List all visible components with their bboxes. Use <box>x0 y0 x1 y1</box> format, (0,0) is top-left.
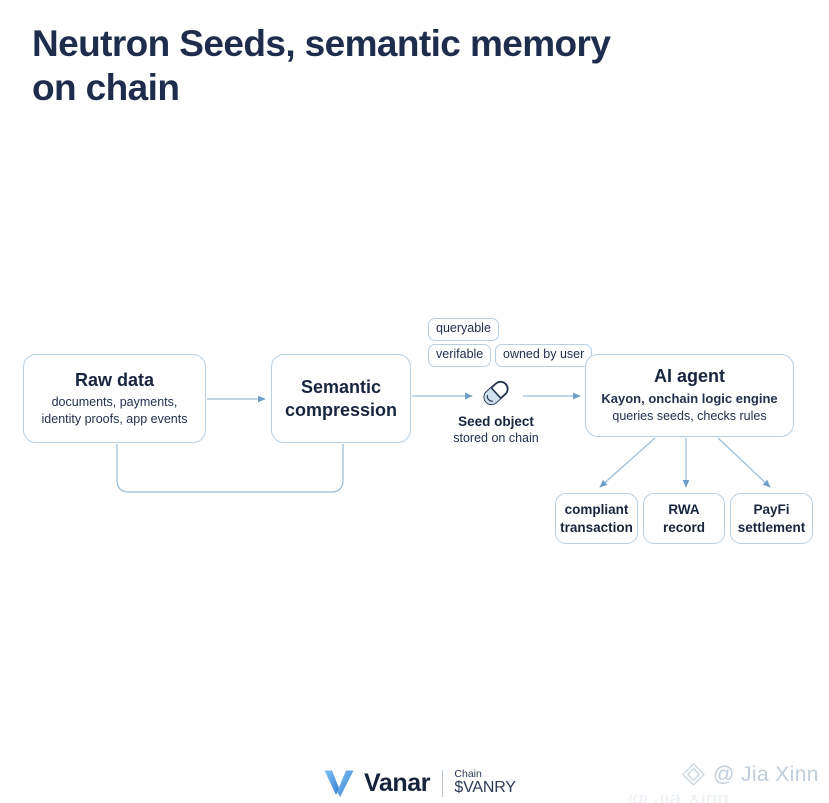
brand-divider <box>442 770 443 797</box>
diamond-gem-icon <box>681 762 706 787</box>
tag-owned-by-user[interactable]: owned by user <box>495 344 592 367</box>
vanar-v-logo-icon <box>323 768 355 798</box>
node-ai-agent[interactable]: AI agent Kayon, onchain logic engine que… <box>585 354 794 437</box>
node-semantic-compression-title: Semantic compression <box>285 376 397 421</box>
brand-name: Vanar <box>364 771 430 796</box>
brand-sub-ticker: $VANRY <box>454 780 515 796</box>
arrow-agent-to-compliant <box>600 438 655 487</box>
node-ai-agent-title: AI agent <box>654 366 725 388</box>
node-rwa-record[interactable]: RWA record <box>643 493 725 544</box>
arrow-agent-to-payfi <box>718 438 770 487</box>
node-seed-object[interactable]: Seed object stored on chain <box>437 376 555 447</box>
node-semantic-compression[interactable]: Semantic compression <box>271 354 411 443</box>
footer-brand: Vanar Chain $VANRY <box>323 768 516 798</box>
watermark-text: @ Jia Xinn <box>713 764 819 785</box>
watermark: @ Jia Xinn <box>681 762 819 787</box>
diagram-canvas: Raw data documents, payments, identity p… <box>0 0 829 803</box>
node-seed-object-subtitle: stored on chain <box>453 431 538 447</box>
capsule-pill-icon <box>477 376 515 410</box>
node-raw-data[interactable]: Raw data documents, payments, identity p… <box>23 354 206 443</box>
node-compliant-transaction[interactable]: compliant transaction <box>555 493 638 544</box>
node-payfi-settlement[interactable]: PayFi settlement <box>730 493 813 544</box>
brand-sub-group: Chain $VANRY <box>454 769 515 796</box>
watermark-ghost-text: @ Jia Xinn <box>628 795 729 803</box>
node-seed-object-title: Seed object <box>458 414 534 431</box>
node-raw-data-subtitle: documents, payments, identity proofs, ap… <box>42 394 188 427</box>
node-ai-agent-subtitle-bold: Kayon, onchain logic engine <box>601 390 777 407</box>
node-ai-agent-subtitle: queries seeds, checks rules <box>612 408 766 425</box>
tag-queryable[interactable]: queryable <box>428 318 499 341</box>
node-raw-data-title: Raw data <box>75 370 154 392</box>
arrow-feedback-loop <box>117 444 343 492</box>
watermark-ghost: @ Jia Xinn <box>628 795 729 803</box>
tag-verifable[interactable]: verifable <box>428 344 491 367</box>
